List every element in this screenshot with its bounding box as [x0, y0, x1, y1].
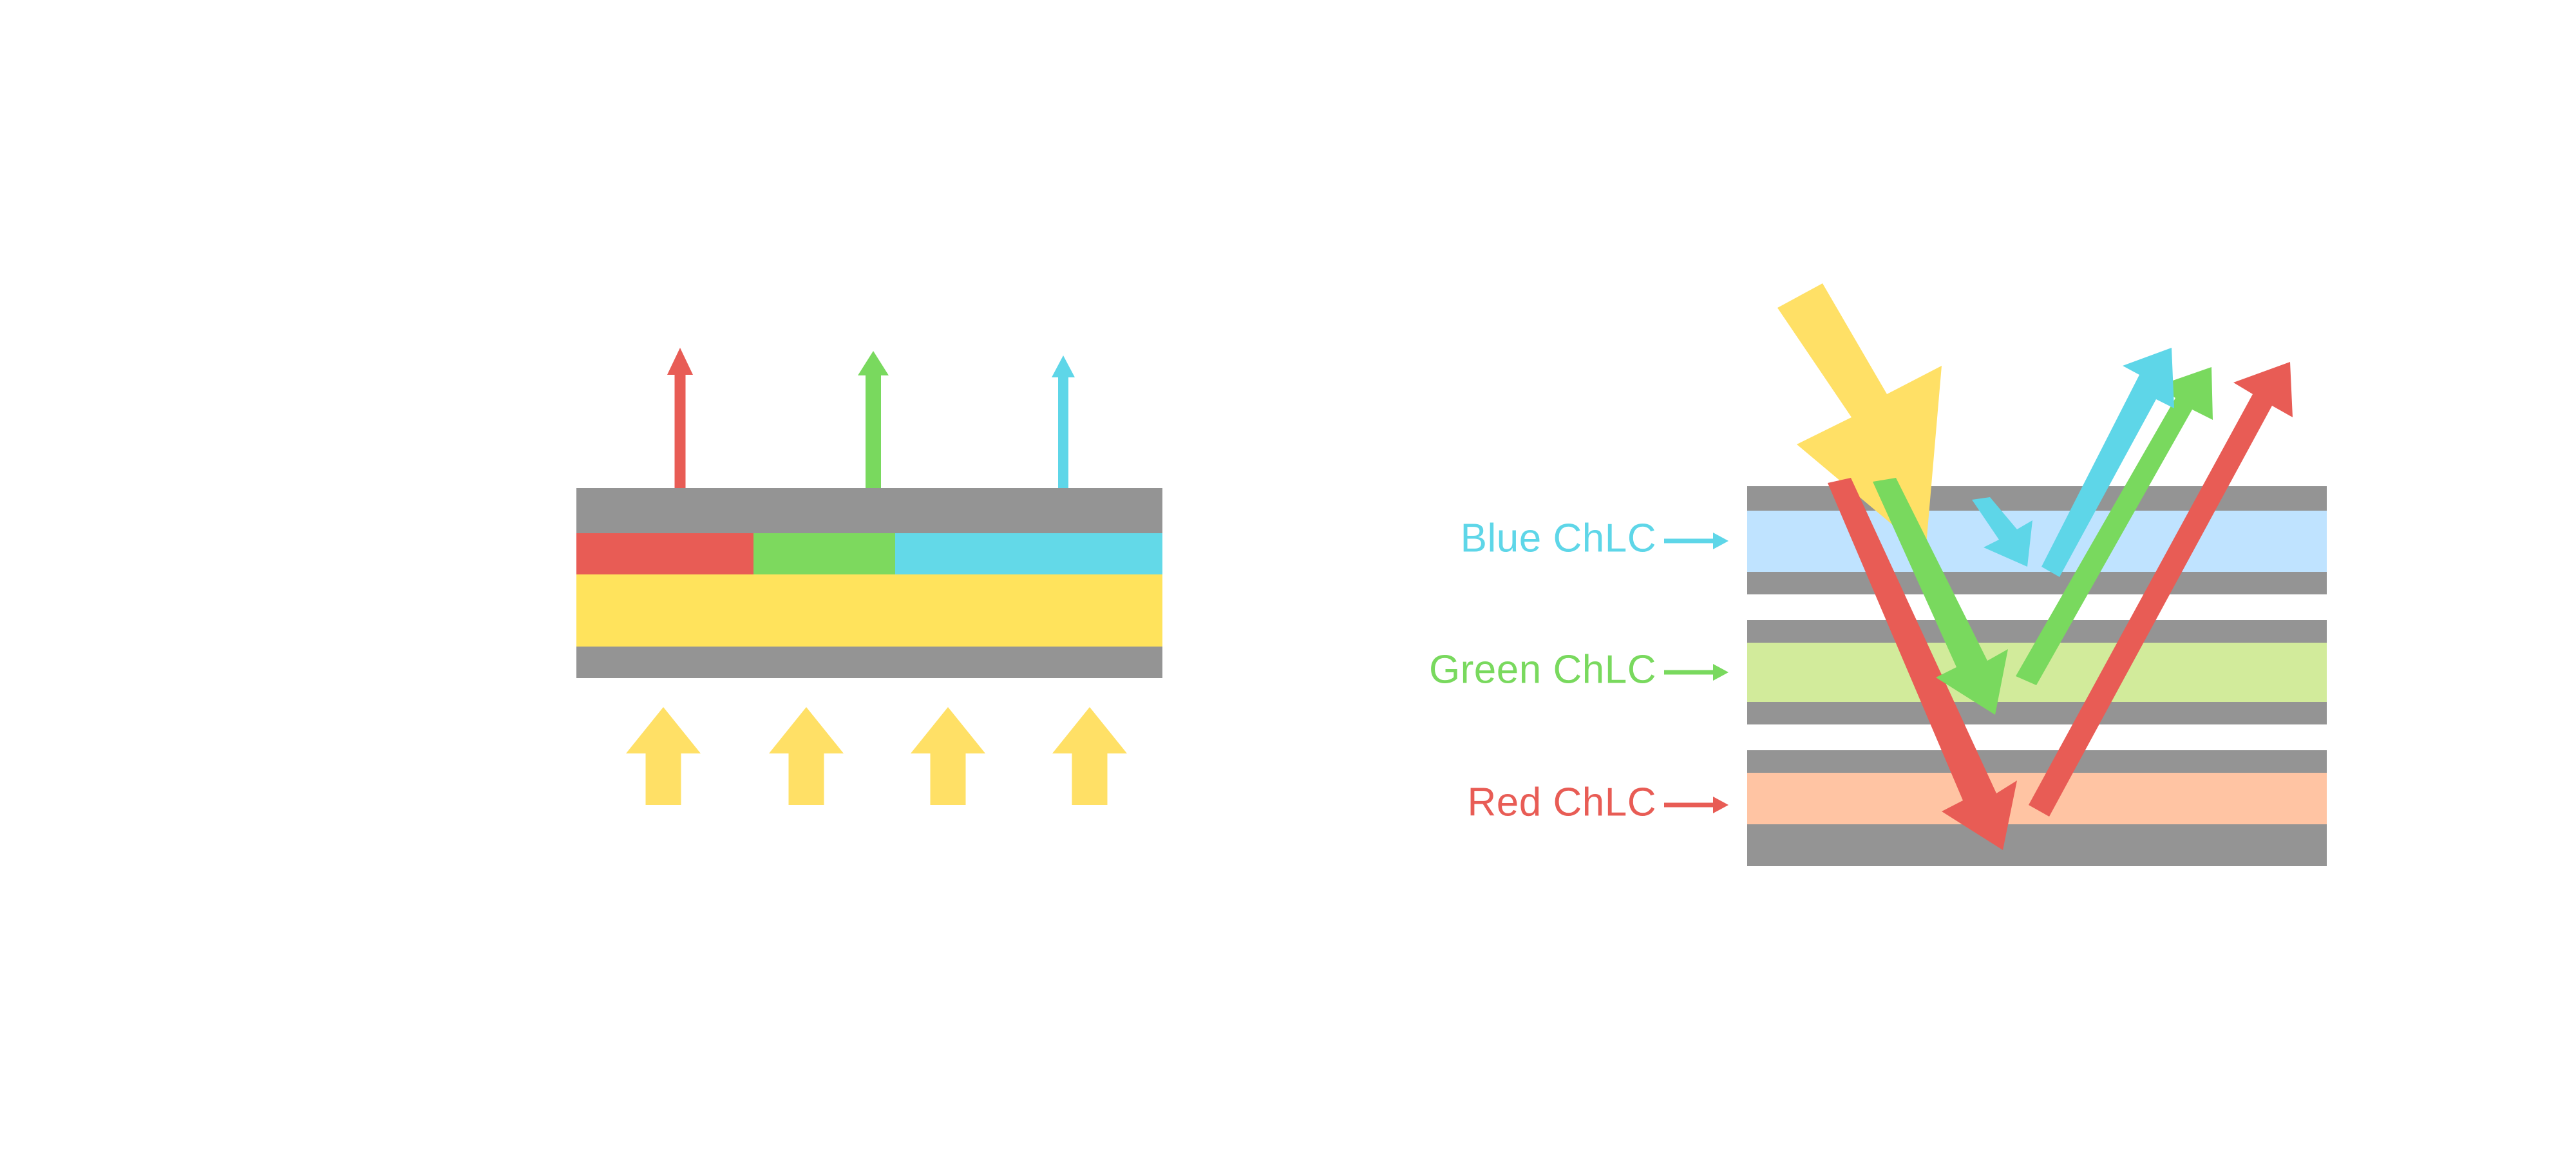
blue-chlc-cell — [1747, 486, 2327, 594]
blue-chlc-cell-bottom-electrode — [1747, 572, 2327, 594]
green-chlc-cell-bottom-electrode — [1747, 702, 2327, 724]
red-chlc-cell-label: Red ChLC — [1468, 780, 1656, 824]
cyan-filter — [895, 533, 1162, 574]
diagram-stage: Blue ChLCGreen ChLCRed ChLC — [0, 0, 2576, 1154]
chlc-diagram-svg: Blue ChLCGreen ChLCRed ChLC — [0, 0, 2576, 1154]
green-filter — [753, 533, 895, 574]
blue-chlc-cell-lc-layer — [1747, 511, 2327, 572]
red-chlc-cell-top-electrode — [1747, 750, 2327, 773]
top-gray-substrate — [576, 488, 1162, 533]
left-display-stack — [576, 488, 1162, 678]
blue-chlc-cell-label: Blue ChLC — [1461, 516, 1656, 560]
backlight-layer — [576, 574, 1162, 647]
green-chlc-cell-label: Green ChLC — [1429, 647, 1656, 692]
red-filter — [576, 533, 753, 574]
bottom-gray-substrate — [576, 647, 1162, 678]
red-chlc-cell-bottom-electrode — [1747, 824, 2327, 866]
